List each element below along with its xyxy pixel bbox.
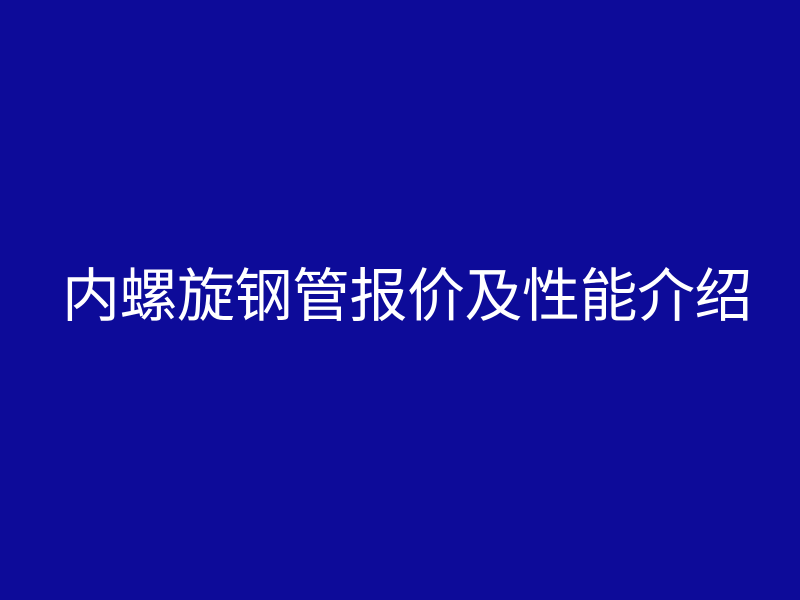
page-title: 内螺旋钢管报价及性能介绍	[62, 262, 752, 334]
title-banner: 内螺旋钢管报价及性能介绍	[0, 0, 800, 600]
